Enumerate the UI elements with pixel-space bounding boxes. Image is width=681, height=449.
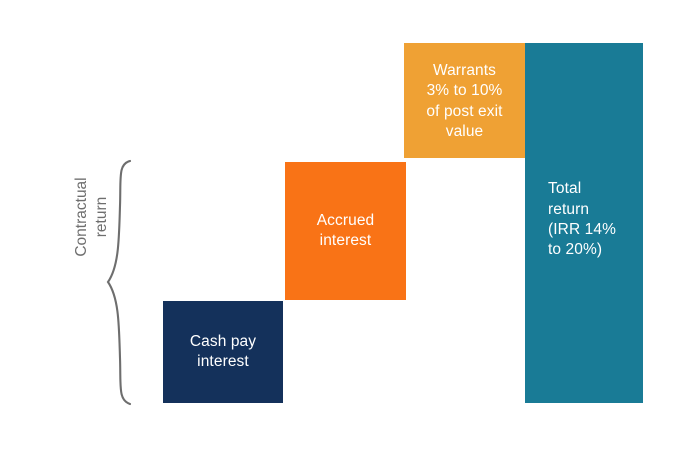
bar-label-total-return: Total return (IRR 14% to 20%) — [548, 179, 643, 261]
waterfall-chart: Contractual return Cash pay interest Acc… — [0, 0, 681, 449]
bar-total-return[interactable]: Total return (IRR 14% to 20%) — [525, 43, 643, 403]
bar-label-cash-pay-interest: Cash pay interest — [163, 332, 283, 373]
bar-cash-pay-interest[interactable]: Cash pay interest — [163, 301, 283, 403]
bar-warrants[interactable]: Warrants 3% to 10% of post exit value — [404, 43, 525, 158]
bar-accrued-interest[interactable]: Accrued interest — [285, 162, 406, 300]
bar-label-accrued-interest: Accrued interest — [285, 211, 406, 252]
contractual-return-label: Contractual return — [71, 122, 113, 312]
bar-label-warrants: Warrants 3% to 10% of post exit value — [404, 61, 525, 143]
